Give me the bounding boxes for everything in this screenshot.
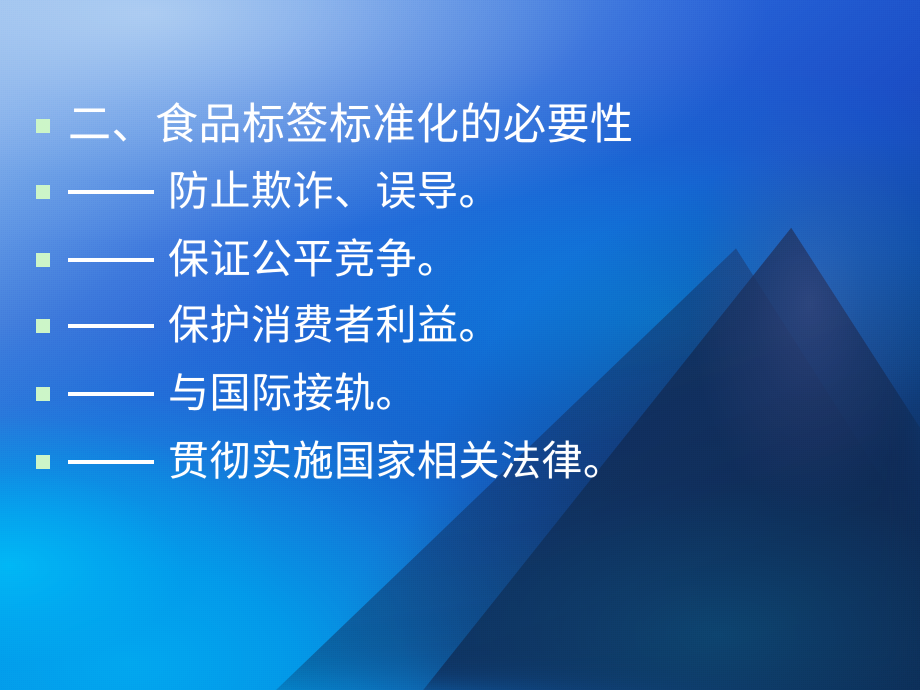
em-dash-icon	[68, 460, 154, 464]
em-dash-icon	[68, 392, 154, 396]
square-bullet-icon	[36, 455, 50, 469]
bullet-item-law-enforcement: 贯彻实施国家相关法律。	[36, 441, 625, 482]
bullet-item-heading: 二、食品标签标准化的必要性	[36, 104, 634, 147]
square-bullet-icon	[36, 253, 50, 267]
bullet-text-consumer-rights: 保护消费者利益。	[168, 305, 500, 346]
square-bullet-icon	[36, 387, 50, 401]
square-bullet-icon	[36, 119, 50, 133]
presentation-slide: 二、食品标签标准化的必要性 防止欺诈、误导。 保证公平竞争。 保护消费者利益。 …	[0, 0, 920, 690]
square-bullet-icon	[36, 185, 50, 199]
bullet-item-anti-fraud: 防止欺诈、误导。	[36, 171, 500, 212]
bullet-text-fair-competition: 保证公平竞争。	[168, 239, 459, 280]
bullet-item-fair-competition: 保证公平竞争。	[36, 239, 459, 280]
bullet-text-law-enforcement: 贯彻实施国家相关法律。	[168, 441, 625, 482]
em-dash-icon	[68, 190, 154, 194]
bullet-item-international: 与国际接轨。	[36, 373, 417, 414]
em-dash-icon	[68, 258, 154, 262]
em-dash-icon	[68, 324, 154, 328]
bullet-item-consumer-rights: 保护消费者利益。	[36, 305, 500, 346]
slide-title: 二、食品标签标准化的必要性	[68, 104, 634, 147]
bullet-text-anti-fraud: 防止欺诈、误导。	[168, 171, 500, 212]
slide-content: 二、食品标签标准化的必要性 防止欺诈、误导。 保证公平竞争。 保护消费者利益。 …	[0, 0, 920, 690]
bullet-text-international: 与国际接轨。	[168, 373, 417, 414]
square-bullet-icon	[36, 319, 50, 333]
